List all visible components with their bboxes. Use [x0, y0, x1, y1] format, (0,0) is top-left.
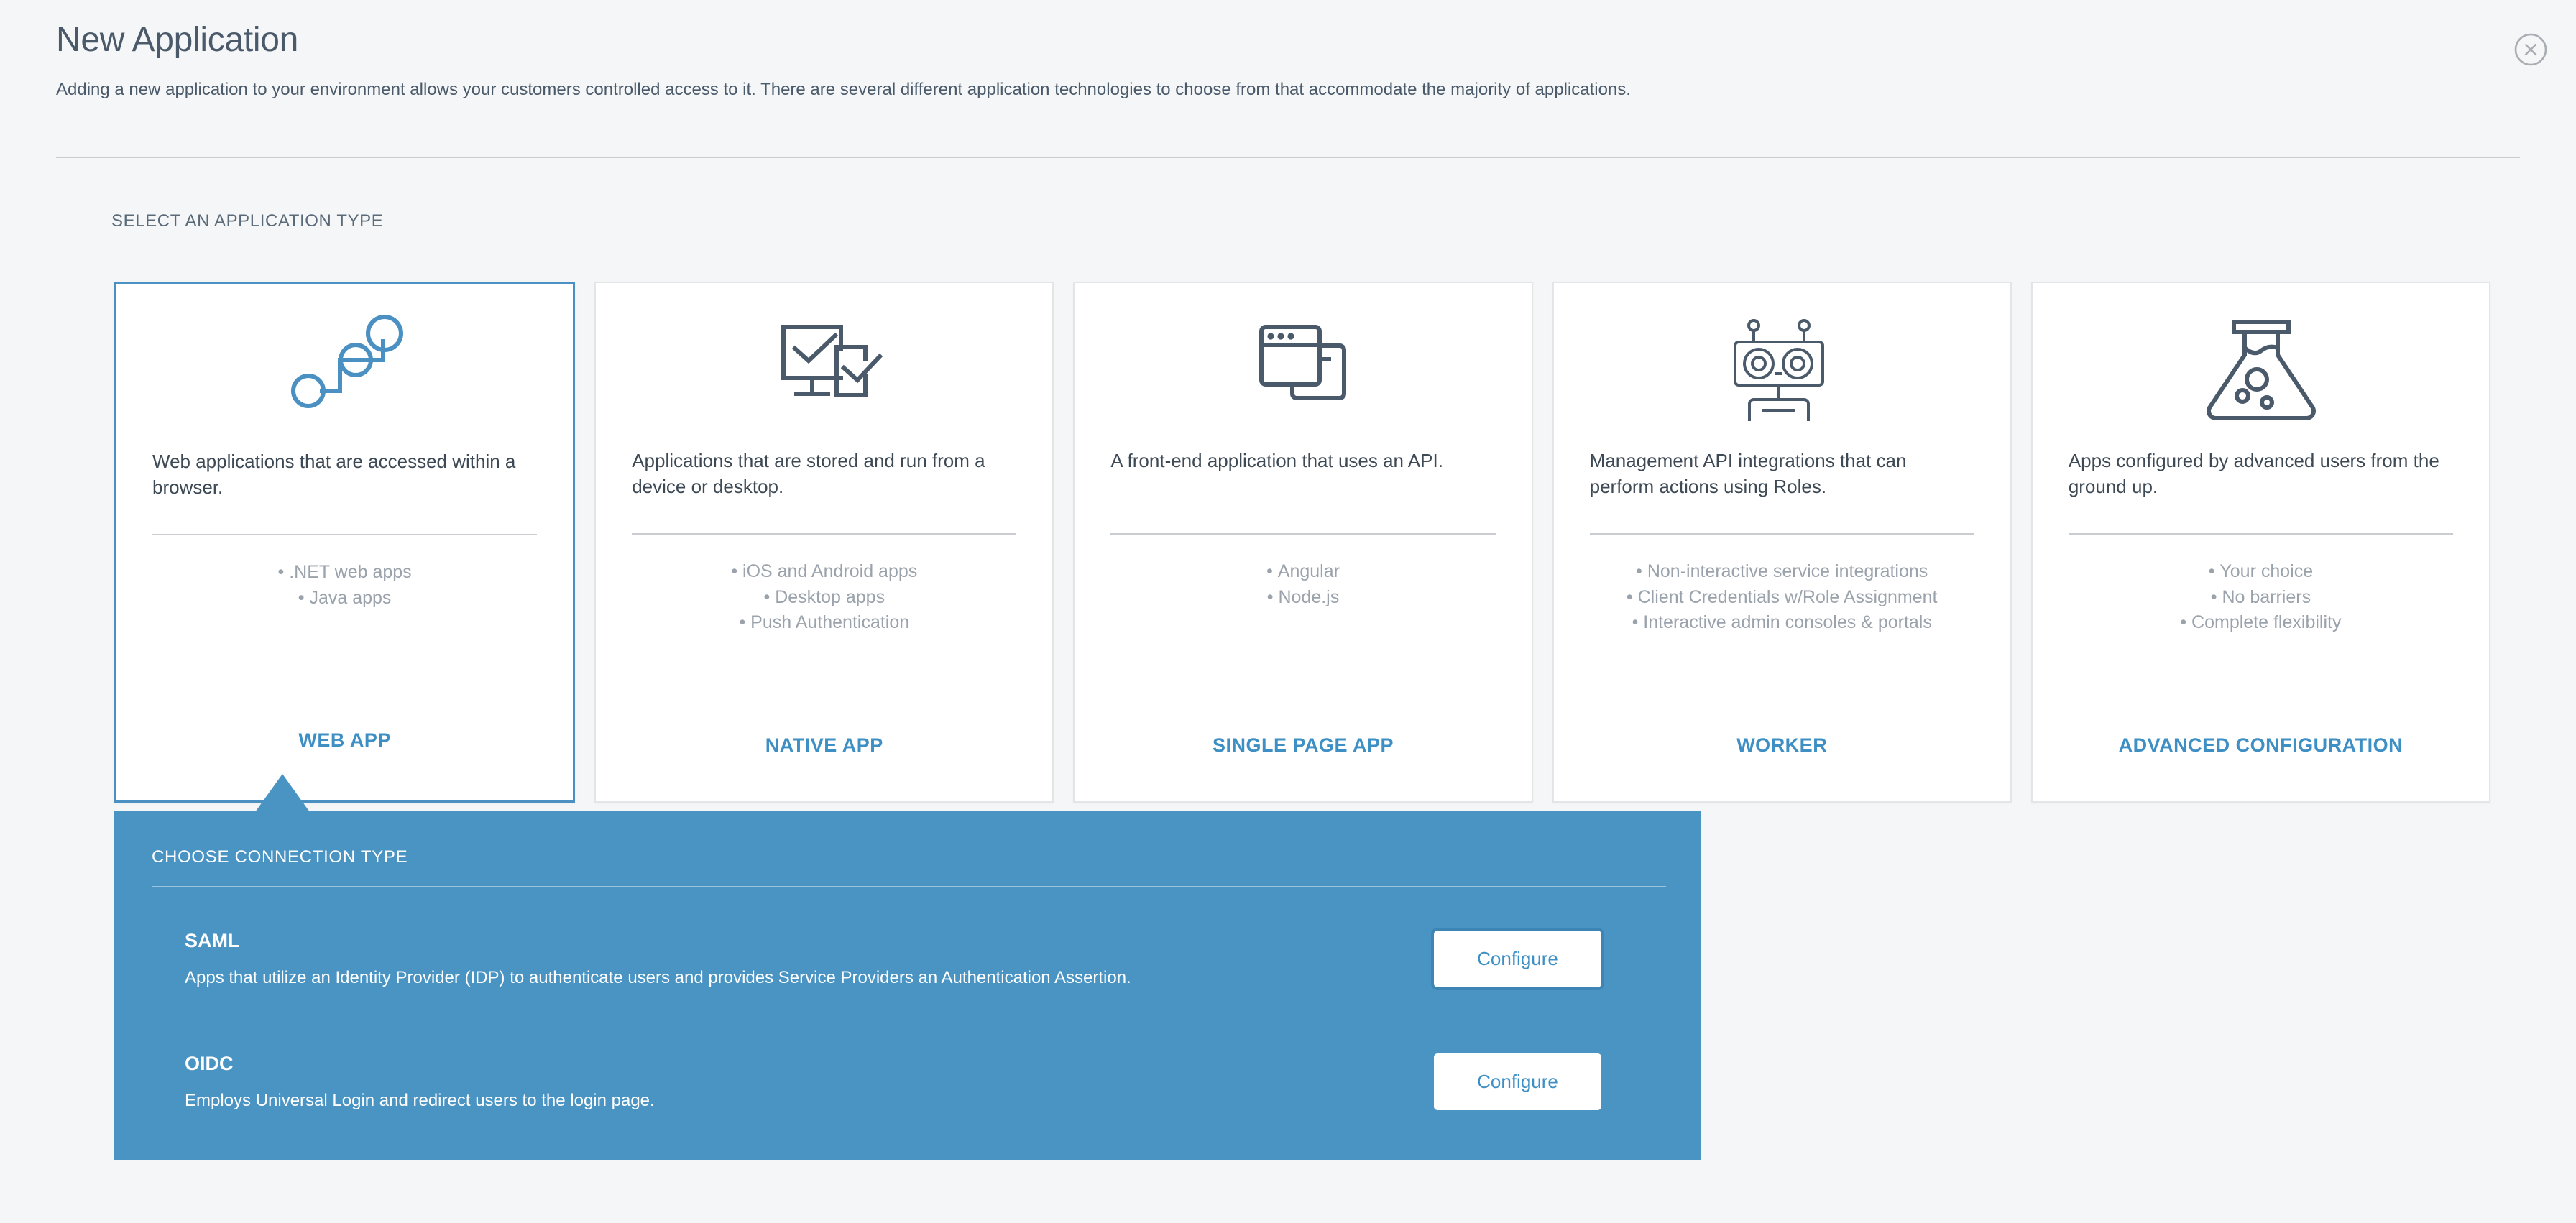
application-type-card-single-page-app[interactable]: A front-end application that uses an API…: [1073, 282, 1532, 803]
card-cta-advanced-configuration[interactable]: ADVANCED CONFIGURATION: [2033, 734, 2489, 757]
connection-info: OIDC Employs Universal Login and redirec…: [152, 1053, 1434, 1111]
card-bullet-list: Your choice No barriers Complete flexibi…: [2033, 535, 2489, 734]
connection-panel-title: CHOOSE CONNECTION TYPE: [152, 847, 408, 867]
choose-connection-type-panel: CHOOSE CONNECTION TYPE SAML Apps that ut…: [114, 811, 1701, 1160]
connected-nodes-icon: [116, 284, 573, 449]
card-cta-worker[interactable]: WORKER: [1554, 734, 2010, 757]
list-item: Complete flexibility: [2047, 610, 2475, 636]
connection-name: SAML: [185, 930, 1434, 952]
card-description: Management API integrations that can per…: [1554, 448, 2010, 533]
card-bullet-list: Angular Node.js: [1075, 535, 1531, 734]
header-divider: [56, 157, 2520, 158]
configure-button-saml[interactable]: Configure: [1434, 931, 1601, 987]
list-item: Node.js: [1089, 585, 1517, 611]
card-cta-single-page-app[interactable]: SINGLE PAGE APP: [1075, 734, 1531, 757]
connection-row-divider: [152, 1015, 1666, 1015]
list-item: iOS and Android apps: [610, 559, 1038, 585]
list-item: Non-interactive service integrations: [1568, 559, 1996, 585]
application-type-card-web-app[interactable]: Web applications that are accessed withi…: [114, 282, 575, 803]
close-circle-icon[interactable]: [2513, 32, 2549, 68]
flask-icon: [2033, 283, 2489, 448]
robot-icon: [1554, 283, 2010, 448]
connection-row-saml: SAML Apps that utilize an Identity Provi…: [152, 904, 1666, 1014]
browser-windows-icon: [1075, 283, 1531, 448]
new-application-dialog: New Application Adding a new application…: [0, 0, 2576, 1223]
list-item: Client Credentials w/Role Assignment: [1568, 585, 1996, 611]
list-item: Angular: [1089, 559, 1517, 585]
dialog-header: New Application Adding a new application…: [56, 22, 2520, 101]
application-type-cards: Web applications that are accessed withi…: [114, 282, 2490, 803]
connection-panel-title-divider: [152, 886, 1666, 887]
list-item: Interactive admin consoles & portals: [1568, 610, 1996, 636]
list-item: Desktop apps: [610, 585, 1038, 611]
application-type-card-native-app[interactable]: Applications that are stored and run fro…: [594, 282, 1054, 803]
card-description: Apps configured by advanced users from t…: [2033, 448, 2489, 533]
list-item: Push Authentication: [610, 610, 1038, 636]
connection-description: Apps that utilize an Identity Provider (…: [185, 968, 1434, 988]
selected-card-pointer-arrow: [255, 774, 310, 812]
list-item: No barriers: [2047, 585, 2475, 611]
card-description: Web applications that are accessed withi…: [116, 449, 573, 534]
desktop-and-mobile-check-icon: [596, 283, 1052, 448]
card-description: A front-end application that uses an API…: [1075, 448, 1531, 533]
application-type-card-advanced-configuration[interactable]: Apps configured by advanced users from t…: [2031, 282, 2490, 803]
connection-info: SAML Apps that utilize an Identity Provi…: [152, 930, 1434, 988]
list-item: Your choice: [2047, 559, 2475, 585]
connection-description: Employs Universal Login and redirect use…: [185, 1091, 1434, 1111]
list-item: .NET web apps: [131, 560, 558, 586]
card-cta-native-app[interactable]: NATIVE APP: [596, 734, 1052, 757]
application-type-card-worker[interactable]: Management API integrations that can per…: [1552, 282, 2012, 803]
card-bullet-list: Non-interactive service integrations Cli…: [1554, 535, 2010, 734]
card-bullet-list: .NET web apps Java apps: [116, 535, 573, 729]
card-bullet-list: iOS and Android apps Desktop apps Push A…: [596, 535, 1052, 734]
card-cta-web-app[interactable]: WEB APP: [116, 729, 573, 752]
page-subtitle: Adding a new application to your environ…: [56, 78, 2520, 101]
page-title: New Application: [56, 22, 2520, 60]
card-description: Applications that are stored and run fro…: [596, 448, 1052, 533]
connection-row-oidc: OIDC Employs Universal Login and redirec…: [152, 1027, 1666, 1137]
configure-button-oidc[interactable]: Configure: [1434, 1053, 1601, 1110]
connection-name: OIDC: [185, 1053, 1434, 1075]
list-item: Java apps: [131, 586, 558, 611]
section-label: SELECT AN APPLICATION TYPE: [111, 211, 383, 231]
